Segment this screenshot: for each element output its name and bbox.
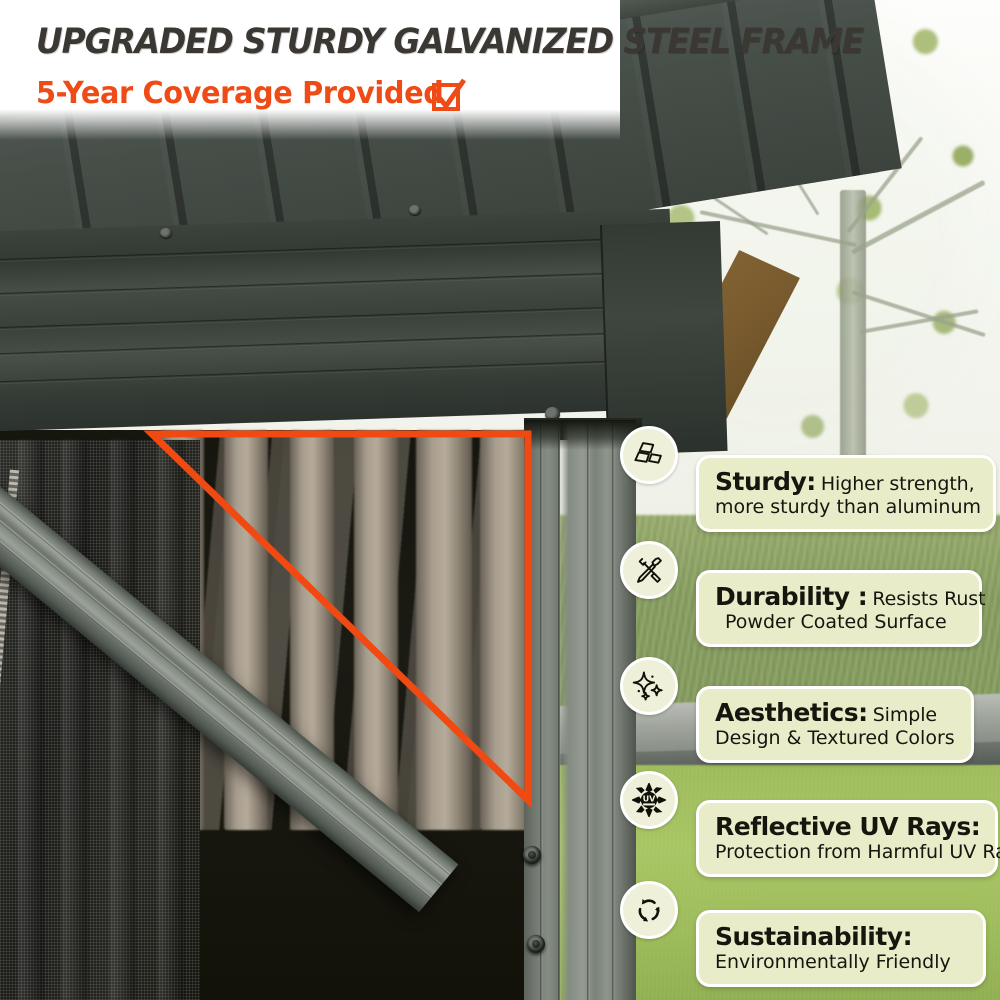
roof-screw <box>160 228 172 238</box>
page-title: UPGRADED STURDY GALVANIZED STEEL FRAME <box>36 22 863 62</box>
header-background <box>0 0 620 140</box>
uv-sun-icon: UV <box>620 771 678 829</box>
feature-line2: Design & Textured Colors <box>715 727 955 749</box>
feature-head: Sustainability: <box>715 922 912 951</box>
svg-text:UV: UV <box>643 794 657 803</box>
feature-tail: Higher strength, <box>821 473 975 495</box>
netting-fold <box>158 440 184 1000</box>
post-groove <box>612 420 615 1000</box>
feature-box: Reflective UV Rays: Protection from Harm… <box>696 800 998 877</box>
feature-head: Aesthetics: <box>715 698 868 727</box>
feature-box: Sturdy: Higher strength, more sturdy tha… <box>696 455 996 532</box>
feature-head: Sturdy: <box>715 467 816 496</box>
brace-bolt <box>527 935 545 953</box>
netting-fold <box>110 440 136 1000</box>
feature-line2: Protection from Harmful UV Rays <box>715 841 979 863</box>
checkbox-checked-icon <box>428 76 468 116</box>
feature-line2: more sturdy than aluminum <box>715 496 977 518</box>
feature-box: Sustainability: Environmentally Friendly <box>696 910 986 987</box>
recycle-icon <box>620 881 678 939</box>
curtain-fold <box>416 430 472 830</box>
post-groove <box>587 420 590 1000</box>
feature-tail: Resists Rust <box>872 588 985 610</box>
curtain-fold <box>354 430 398 830</box>
feature-box: Durability : Resists Rust Powder Coated … <box>696 570 982 647</box>
roof-screw <box>409 205 421 215</box>
netting-fold <box>62 440 88 1000</box>
product-feature-graphic: UPGRADED STURDY GALVANIZED STEEL FRAME 5… <box>0 0 1000 1000</box>
feature-head: Durability : <box>715 582 867 611</box>
steel-bars-icon <box>620 426 678 484</box>
post-top-shadow <box>524 420 636 450</box>
brace-bolt <box>523 846 541 864</box>
fascia-beam <box>0 209 676 432</box>
coverage-subtitle: 5-Year Coverage Provided <box>36 76 444 111</box>
feature-line2: Environmentally Friendly <box>715 951 967 973</box>
post-groove <box>558 420 561 1000</box>
sparkles-icon <box>620 657 678 715</box>
feature-line2: Powder Coated Surface <box>715 611 963 633</box>
feature-head: Reflective UV Rays: <box>715 812 980 841</box>
wrench-screwdriver-icon <box>620 541 678 599</box>
feature-box: Aesthetics: Simple Design & Textured Col… <box>696 686 974 763</box>
post-groove <box>540 420 543 1000</box>
feature-tail: Simple <box>873 704 937 726</box>
